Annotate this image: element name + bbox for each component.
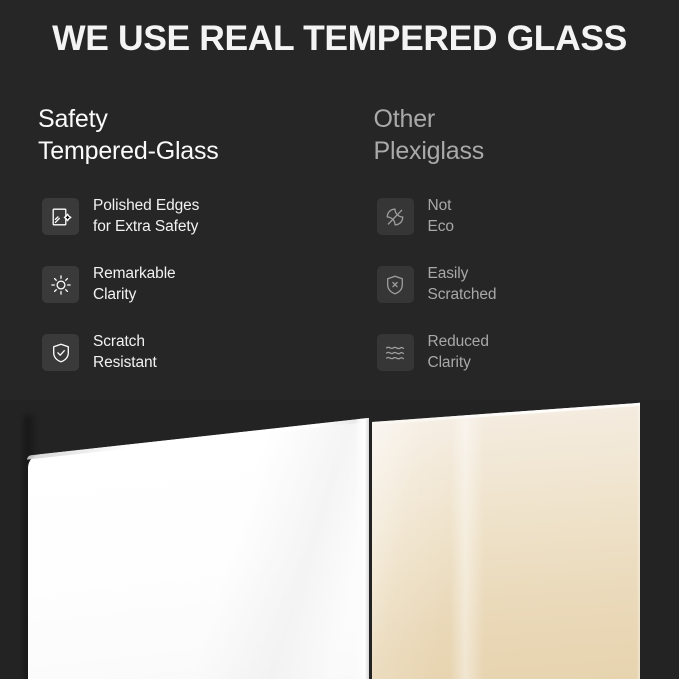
column-heading-line2: Plexiglass xyxy=(374,136,679,168)
feature-line1: Not xyxy=(428,197,452,214)
feature-line1: Scratch xyxy=(93,333,145,350)
feature-line2: Clarity xyxy=(93,285,176,305)
column-heading-line1: Other xyxy=(374,105,436,133)
feature-line2: for Extra Safety xyxy=(93,217,199,237)
feature-line2: Clarity xyxy=(428,353,489,373)
feature-scratch-resistant: Scratch Resistant xyxy=(42,330,340,375)
feature-line1: Reduced xyxy=(428,333,489,350)
product-photo xyxy=(0,400,679,679)
plexiglass-panel xyxy=(372,403,640,679)
feature-line2: Resistant xyxy=(93,353,157,373)
feature-label: Reduced Clarity xyxy=(428,332,489,373)
feature-list: Polished Edges for Extra Safety Remarkab… xyxy=(38,194,340,375)
feature-label: Scratch Resistant xyxy=(93,332,157,373)
feature-line1: Polished Edges xyxy=(93,197,199,214)
polished-edges-icon xyxy=(42,198,79,235)
feature-line2: Scratched xyxy=(428,285,497,305)
tempered-glass-panel xyxy=(28,418,368,679)
feature-easily-scratched: Easily Scratched xyxy=(377,262,679,307)
feature-line2: Eco xyxy=(428,217,454,237)
column-heading: Other Plexiglass xyxy=(374,104,679,167)
panel-edge-highlight xyxy=(355,418,369,679)
waves-icon xyxy=(377,334,414,371)
page-title: WE USE REAL TEMPERED GLASS xyxy=(0,19,679,58)
column-heading: Safety Tempered-Glass xyxy=(38,104,340,167)
column-heading-line1: Safety xyxy=(38,105,108,133)
sun-clarity-icon xyxy=(42,266,79,303)
feature-line1: Remarkable xyxy=(93,265,176,282)
leaf-crossed-icon xyxy=(377,198,414,235)
comparison-infographic: WE USE REAL TEMPERED GLASS Safety Temper… xyxy=(0,0,679,679)
column-tempered-glass: Safety Tempered-Glass Polished Edges fo xyxy=(0,104,340,404)
feature-label: Easily Scratched xyxy=(428,264,497,305)
feature-label: Not Eco xyxy=(428,196,454,237)
feature-list: Not Eco Easily Scratched xyxy=(374,194,679,375)
comparison-columns: Safety Tempered-Glass Polished Edges fo xyxy=(0,104,679,404)
feature-polished-edges: Polished Edges for Extra Safety xyxy=(42,194,340,239)
feature-label: Polished Edges for Extra Safety xyxy=(93,196,199,237)
feature-label: Remarkable Clarity xyxy=(93,264,176,305)
shield-x-icon xyxy=(377,266,414,303)
feature-reduced-clarity: Reduced Clarity xyxy=(377,330,679,375)
feature-not-eco: Not Eco xyxy=(377,194,679,239)
column-plexiglass: Other Plexiglass Not Eco xyxy=(340,104,679,404)
column-heading-line2: Tempered-Glass xyxy=(38,136,340,168)
feature-line1: Easily xyxy=(428,265,469,282)
shield-check-icon xyxy=(42,334,79,371)
feature-remarkable-clarity: Remarkable Clarity xyxy=(42,262,340,307)
